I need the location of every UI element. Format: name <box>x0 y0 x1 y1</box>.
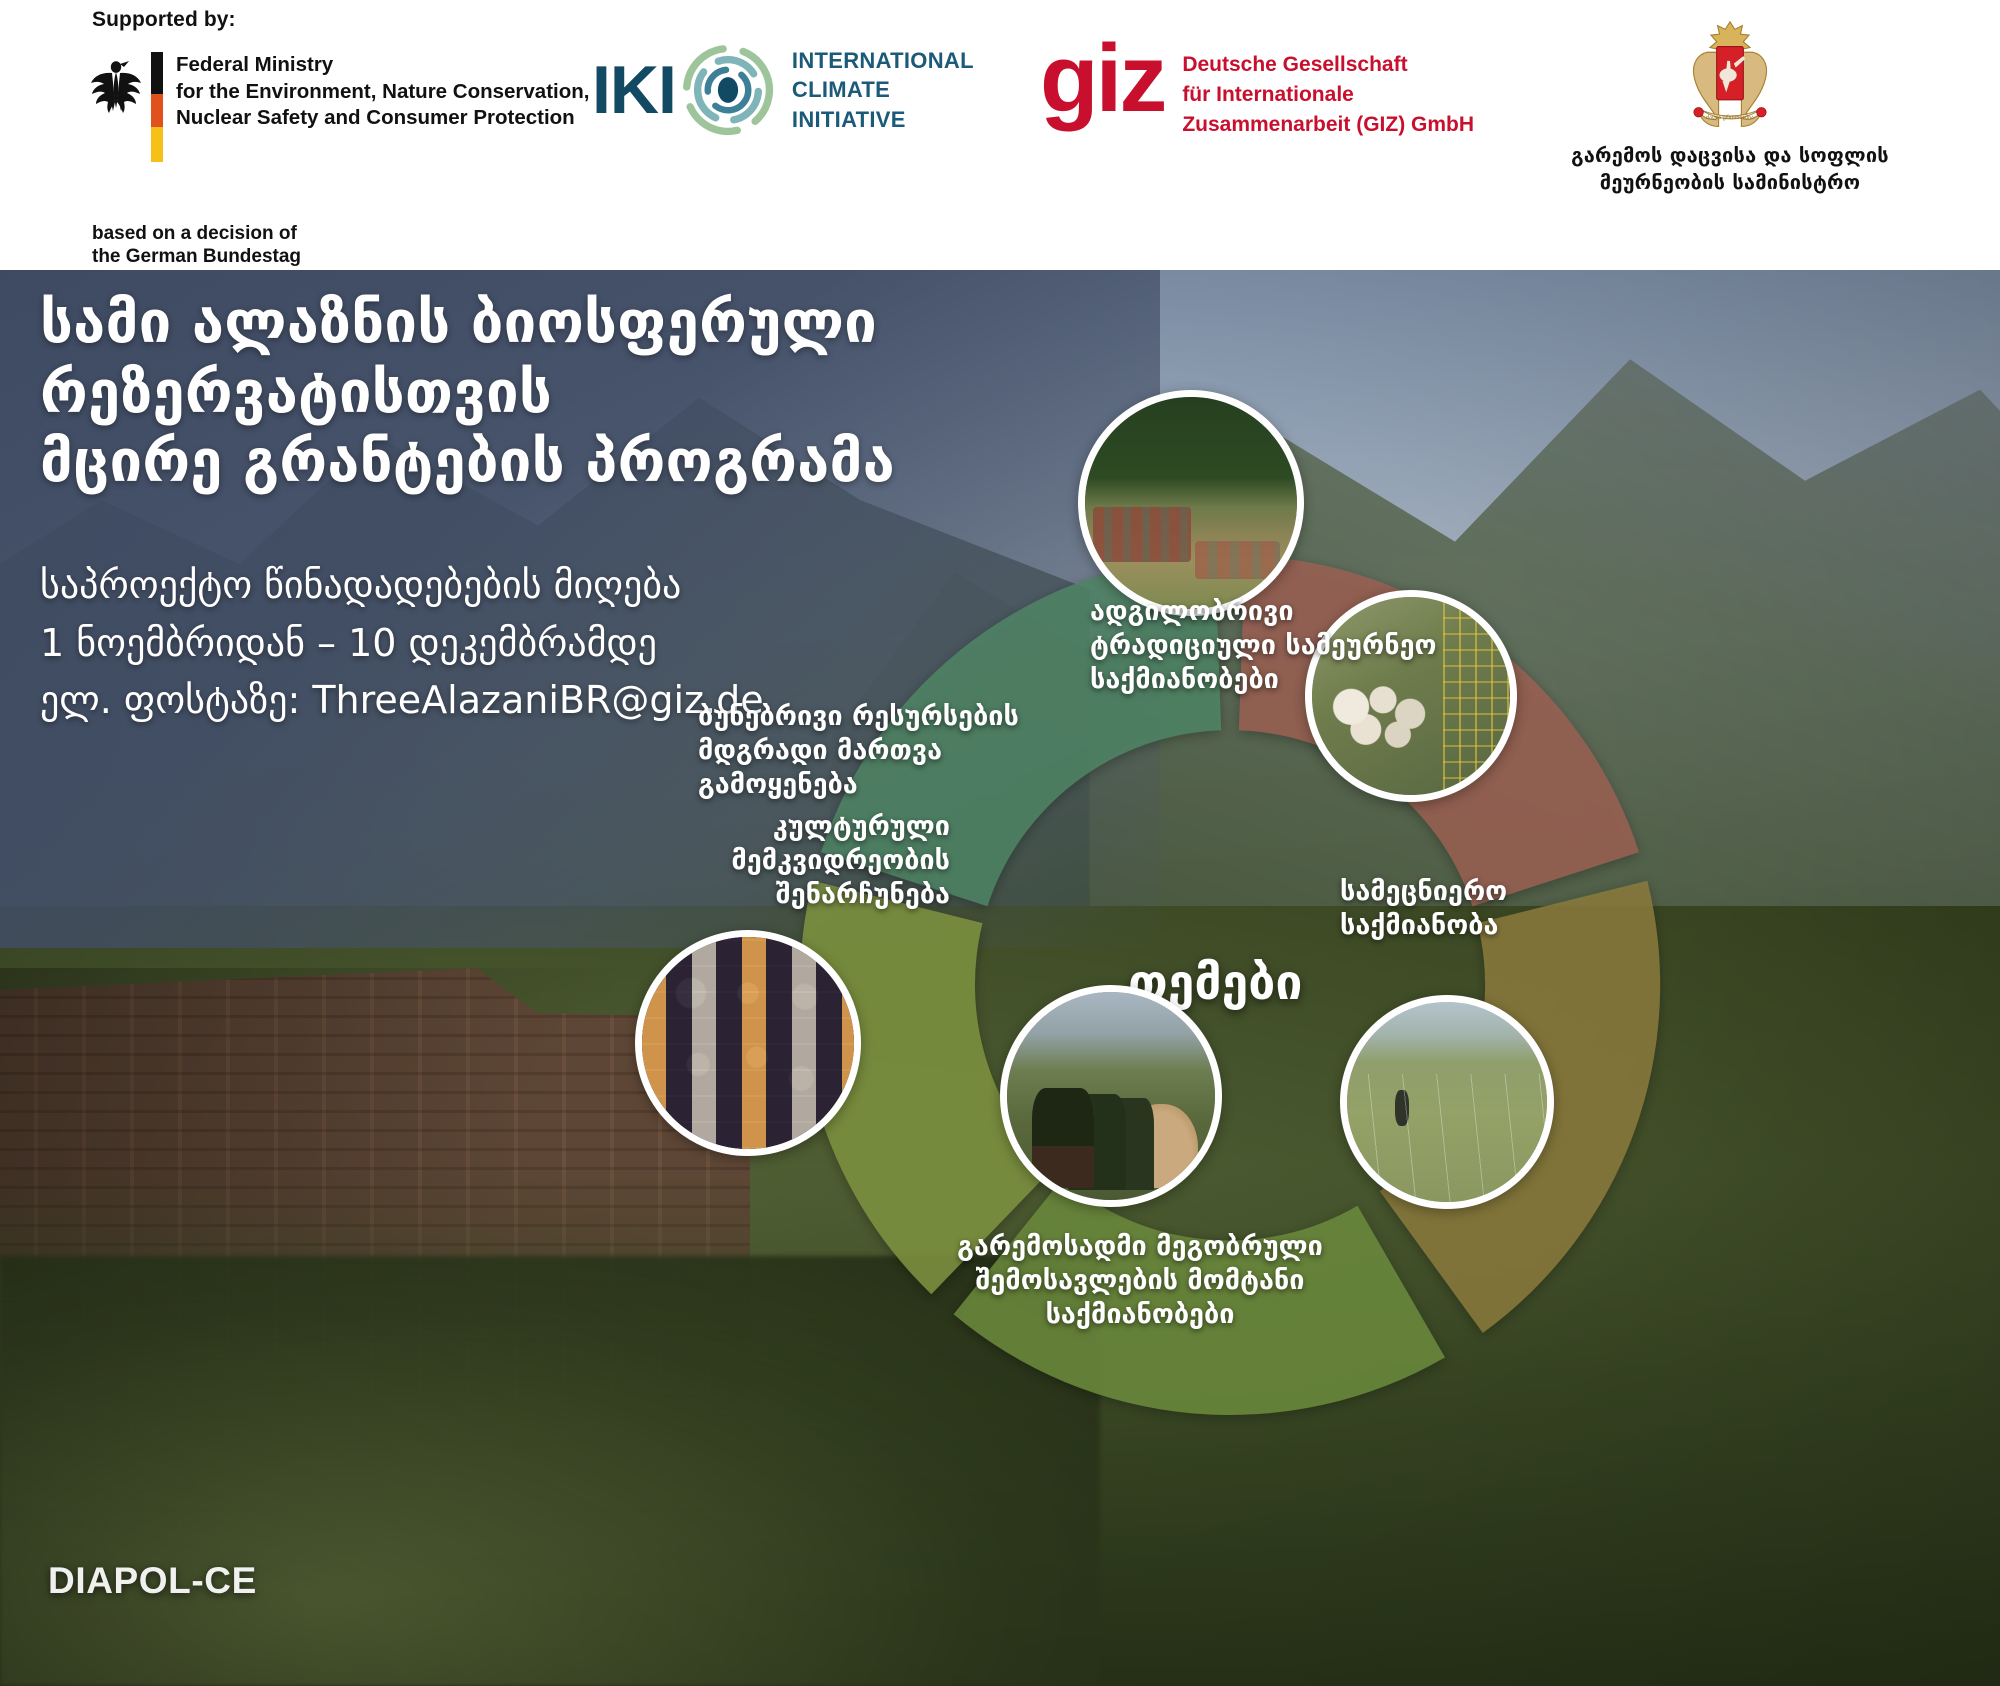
ministry-line-1: გარემოს დაცვისა და სოფლის <box>1480 142 1980 169</box>
label-natural-resources-l3: გამოყენება <box>698 768 1078 802</box>
survey-photo-art <box>1347 1002 1547 1202</box>
german-eagle-icon <box>90 52 142 114</box>
label-natural-resources-l1: ბუნებრივი რესურსების <box>698 700 1078 734</box>
bundestag-note: based on a decision of the German Bundes… <box>92 222 301 268</box>
bundestag-line-2: the German Bundestag <box>92 245 301 268</box>
label-eco-income: გარემოსადმი მეგობრული შემოსავლების მომტა… <box>880 1230 1400 1332</box>
label-local-traditional-l1: ადგილობრივი <box>1090 595 1490 629</box>
label-cultural-heritage-l3: შენარჩუნება <box>630 878 950 912</box>
field-survey-photo <box>1340 995 1554 1209</box>
poster-root: Supported by: Federal Ministry for the E… <box>0 0 2000 1686</box>
giz-text: Deutsche Gesellschaft für Internationale… <box>1182 50 1474 139</box>
iki-wordmark: IKI <box>592 56 676 124</box>
giz-line-2: für Internationale <box>1182 80 1474 110</box>
title-line-1: სამი ალაზნის ბიოსფერული რეზერვატისთვის <box>40 288 1170 427</box>
iki-line-3: INITIATIVE <box>792 105 974 134</box>
label-scientific: სამეცნიერო საქმიანობა <box>1340 875 1590 943</box>
label-eco-income-l3: საქმიანობები <box>880 1298 1400 1332</box>
bundestag-line-1: based on a decision of <box>92 222 301 245</box>
iki-text: INTERNATIONAL CLIMATE INITIATIVE <box>792 46 974 134</box>
iki-logo: IKI INTERNATIONAL CLIMATE INITIATIVE <box>592 44 974 136</box>
georgia-ministry-text: გარემოს დაცვისა და სოფლის მეურნეობის სამ… <box>1480 142 1980 196</box>
label-cultural-heritage: კულტურული მემკვიდრეობის შენარჩუნება <box>630 810 950 912</box>
label-scientific-l1: სამეცნიერო <box>1340 875 1590 909</box>
iki-circle-icon <box>682 44 774 136</box>
bmu-line-3: Nuclear Safety and Consumer Protection <box>176 105 589 132</box>
label-eco-income-l1: გარემოსადმი მეგობრული <box>880 1230 1400 1264</box>
label-scientific-l2: საქმიანობა <box>1340 909 1590 943</box>
label-local-traditional-l2: ტრადიციული სამეურნეო <box>1090 629 1490 663</box>
svg-text:ძალა ერთობაშია: ძალა ერთობაშია <box>1706 114 1754 121</box>
carpet-photo-art <box>642 937 854 1149</box>
label-natural-resources: ბუნებრივი რესურსების მდგრადი მართვა გამო… <box>698 700 1078 802</box>
bmu-line-1: Federal Ministry <box>176 52 589 79</box>
giz-wordmark: giz <box>1040 38 1164 120</box>
label-cultural-heritage-l1: კულტურული <box>630 810 950 844</box>
label-local-traditional-l3: საქმიანობები <box>1090 663 1490 697</box>
supported-by-label: Supported by: <box>92 8 236 32</box>
wine-products-photo <box>1000 985 1222 1207</box>
carpet-textile-photo <box>635 930 861 1156</box>
giz-line-3: Zusammenarbeit (GIZ) GmbH <box>1182 110 1474 140</box>
giz-logo: giz Deutsche Gesellschaft für Internatio… <box>1040 38 1474 139</box>
village-photo-art <box>1085 397 1297 609</box>
georgia-ministry-logo: ძალა ერთობაშია გარემოს დაცვისა და სოფლის… <box>1480 18 1980 196</box>
donor-header: Supported by: Federal Ministry for the E… <box>0 0 2000 270</box>
village-mountain-photo <box>1078 390 1304 616</box>
georgia-coat-of-arms-icon: ძალა ერთობაშია <box>1682 18 1778 136</box>
bmu-line-2: for the Environment, Nature Conservation… <box>176 79 589 106</box>
label-natural-resources-l2: მდგრადი მართვა <box>698 734 1078 768</box>
german-flag-bar <box>151 52 163 162</box>
ministry-line-2: მეურნეობის სამინისტრო <box>1480 169 1980 196</box>
label-local-traditional: ადგილობრივი ტრადიციული სამეურნეო საქმიან… <box>1090 595 1490 697</box>
diapol-ce-logo: DIAPOL-CE <box>48 1560 257 1602</box>
label-eco-income-l2: შემოსავლების მომტანი <box>880 1264 1400 1298</box>
label-cultural-heritage-l2: მემკვიდრეობის <box>630 844 950 878</box>
giz-line-1: Deutsche Gesellschaft <box>1182 50 1474 80</box>
themes-donut-diagram: თემები ბუნებრივი რესურსების მდგრადი მართ… <box>760 410 1740 1560</box>
iki-line-1: INTERNATIONAL <box>792 46 974 75</box>
wine-photo-art <box>1007 992 1215 1200</box>
bmu-logo: Federal Ministry for the Environment, Na… <box>90 52 589 162</box>
iki-line-2: CLIMATE <box>792 75 974 104</box>
bmu-text: Federal Ministry for the Environment, Na… <box>176 52 589 132</box>
